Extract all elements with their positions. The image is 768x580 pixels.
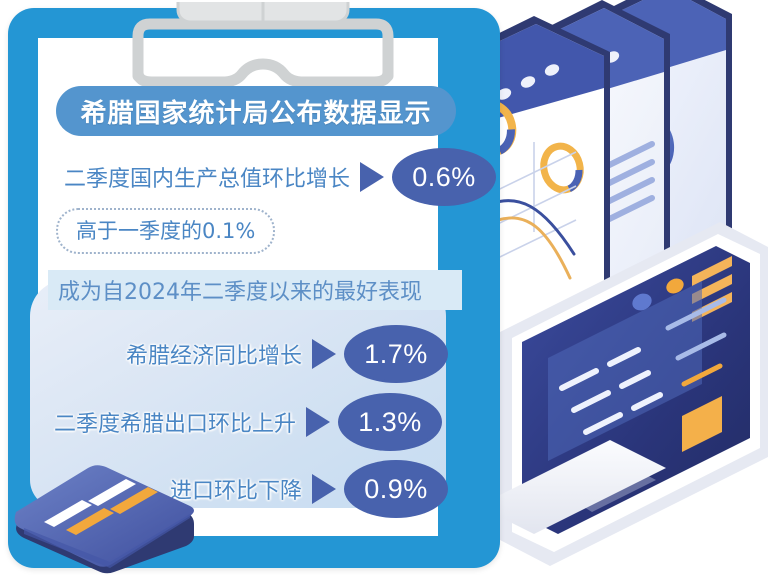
infographic-canvas: 希腊国家统计局公布数据显示 二季度国内生产总值环比增长 0.6% 高于一季度的0… [0, 0, 768, 580]
stat-value-oval: 1.3% [338, 393, 442, 451]
illustration-group [470, 0, 768, 580]
stat-label: 希腊经济同比增长 [126, 338, 302, 370]
clipboard-clip-icon [118, 2, 408, 88]
stat-value-oval: 0.9% [344, 460, 448, 518]
page-title: 希腊国家统计局公布数据显示 [80, 93, 431, 130]
stat-value-oval: 1.7% [344, 325, 448, 383]
triangle-right-icon [312, 339, 336, 369]
highlight-banner: 成为自2024年二季度以来的最好表现 [48, 270, 462, 310]
clipboard-panel: 希腊国家统计局公布数据显示 二季度国内生产总值环比增长 0.6% 高于一季度的0… [8, 8, 500, 568]
title-pill: 希腊国家统计局公布数据显示 [56, 86, 456, 136]
stat-value-oval: 0.6% [392, 148, 496, 206]
stat-row-gdp-qoq: 二季度国内生产总值环比增长 0.6% [64, 148, 496, 206]
stat-value: 0.9% [364, 474, 428, 505]
stat-label: 二季度国内生产总值环比增长 [64, 161, 350, 193]
stat-value: 1.7% [364, 339, 428, 370]
note-dotted-badge: 高于一季度的0.1% [56, 208, 275, 254]
triangle-right-icon [312, 474, 336, 504]
triangle-right-icon [360, 162, 384, 192]
stat-row-greece-economy-yoy: 希腊经济同比增长 1.7% [126, 325, 448, 383]
stat-row-exports-qoq: 二季度希腊出口环比上升 1.3% [54, 393, 442, 451]
calculator-icon [14, 456, 214, 580]
stat-value: 1.3% [358, 407, 422, 438]
stat-label: 二季度希腊出口环比上升 [54, 406, 296, 438]
stat-value: 0.6% [412, 162, 476, 193]
triangle-right-icon [306, 407, 330, 437]
highlight-banner-text: 成为自2024年二季度以来的最好表现 [48, 274, 422, 306]
